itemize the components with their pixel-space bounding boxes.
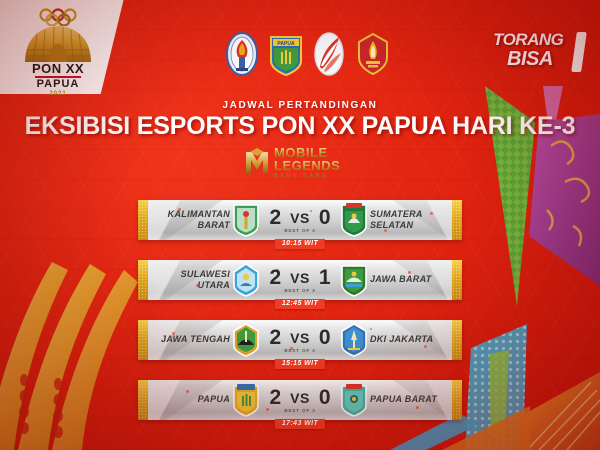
away-team-name: SUMATERA SELATAN: [370, 200, 452, 240]
crest-sulawesi-utara: [232, 262, 260, 298]
match-time-badge: 10:15 WIT: [275, 239, 325, 249]
match-score: 2 VS 0 BEST OF 3: [262, 320, 338, 360]
match-row[interactable]: PAPUA 2 VS 0 BEST OF 3: [0, 376, 600, 436]
home-team-line1: PAPUA: [198, 394, 230, 405]
match-format: BEST OF 3: [284, 288, 315, 293]
torang-bisa-line1: TORANG: [493, 30, 563, 50]
pon-xx-papua-logo: PON XX PAPUA 2021: [18, 6, 98, 94]
crest-jawa-tengah: [232, 322, 260, 358]
crest-dki-jakarta: [340, 322, 368, 358]
away-team-name: JAWA BARAT: [370, 260, 452, 300]
away-team-line1: DKI JAKARTA: [370, 334, 433, 345]
away-score: 1: [319, 267, 331, 288]
home-team-line1: JAWA TENGAH: [161, 334, 230, 345]
home-team-line1: KALIMANTAN: [168, 209, 230, 220]
match-row[interactable]: JAWA TENGAH 2 VS 0 BEST OF 3: [0, 316, 600, 376]
emblem-pon-torch: [312, 31, 346, 77]
pon-logo-year: 2021: [18, 91, 98, 97]
home-score: 2: [269, 387, 281, 408]
away-team-line2: SELATAN: [370, 220, 423, 231]
emblem-papua-province: PAPUA: [269, 31, 303, 77]
match-format: BEST OF 3: [284, 348, 315, 353]
mobile-legends-logo: MOBILE LEGENDS BANG BANG: [244, 142, 356, 182]
match-score: 2 VS 0 BEST OF 3: [262, 380, 338, 420]
match-list: KALIMANTAN BARAT 2 VS 0 BEST OF 3: [0, 196, 600, 436]
torang-bisa-line2: BISA: [507, 48, 553, 71]
match-row[interactable]: SULAWESI UTARA 2 VS 1 BEST OF 3: [0, 256, 600, 316]
bar-cap-left: [138, 380, 148, 420]
ml-word-mobile: MOBILE: [274, 146, 340, 159]
crest-jawa-barat: [340, 262, 368, 298]
crest-sumatera-selatan: [340, 202, 368, 238]
home-team-line1: SULAWESI: [181, 269, 230, 280]
home-team-name: JAWA TENGAH: [152, 320, 230, 360]
home-team-line2: UTARA: [181, 280, 230, 291]
bar-cap-right: [452, 200, 462, 240]
poster-root: PON XX PAPUA 2021 PAPUA: [0, 0, 600, 450]
vs-label: VS: [290, 211, 310, 225]
pon-logo-line1: PON XX: [18, 62, 98, 75]
stadium-honai-icon: [21, 22, 95, 64]
pon-logo-line2: PAPUA: [18, 79, 98, 90]
home-score: 2: [269, 267, 281, 288]
away-score: 0: [319, 207, 331, 228]
ml-word-legends: LEGENDS: [274, 159, 340, 172]
home-team-name: PAPUA: [152, 380, 230, 420]
torang-bisa-exclamation: [571, 32, 587, 72]
emblem-row: PAPUA: [225, 28, 390, 80]
match-time-badge: 17:43 WIT: [275, 419, 325, 429]
torang-bisa-logo: TORANG BISA: [491, 30, 586, 76]
page-title: EKSIBISI ESPORTS PON XX PAPUA HARI KE-3: [0, 112, 600, 141]
away-team-name: PAPUA BARAT: [370, 380, 452, 420]
bar-cap-right: [452, 380, 462, 420]
svg-text:PAPUA: PAPUA: [277, 41, 295, 47]
home-score: 2: [269, 327, 281, 348]
match-format: BEST OF 3: [284, 228, 315, 233]
ml-tagline: BANG BANG: [274, 174, 340, 179]
match-time-badge: 12:45 WIT: [275, 299, 325, 309]
vs-label: VS: [290, 271, 310, 285]
bar-cap-right: [452, 260, 462, 300]
bar-cap-left: [138, 260, 148, 300]
mobile-legends-wordmark: MOBILE LEGENDS BANG BANG: [274, 146, 340, 179]
away-score: 0: [319, 327, 331, 348]
home-team-name: SULAWESI UTARA: [152, 260, 230, 300]
bar-cap-right: [452, 320, 462, 360]
match-score: 2 VS 0 BEST OF 3: [262, 200, 338, 240]
home-team-line2: BARAT: [168, 220, 230, 231]
vs-label: VS: [290, 391, 310, 405]
bar-cap-left: [138, 200, 148, 240]
crest-papua-barat: [340, 382, 368, 418]
pon-logo-text: PON XX PAPUA 2021: [18, 62, 98, 97]
home-team-name: KALIMANTAN BARAT: [152, 200, 230, 240]
crest-papua: [232, 382, 260, 418]
match-format: BEST OF 3: [284, 408, 315, 413]
crest-kalimantan-barat: [232, 202, 260, 238]
bar-cap-left: [138, 320, 148, 360]
away-score: 0: [319, 387, 331, 408]
emblem-kemenpora: [356, 31, 390, 77]
away-team-line1: PAPUA BARAT: [370, 394, 437, 405]
mobile-legends-mark-icon: [244, 148, 270, 176]
vs-label: VS: [290, 331, 310, 345]
match-time-badge: 15:15 WIT: [275, 359, 325, 369]
emblem-koni: [225, 31, 259, 77]
away-team-line1: SUMATERA: [370, 209, 423, 220]
match-row[interactable]: KALIMANTAN BARAT 2 VS 0 BEST OF 3: [0, 196, 600, 256]
schedule-subtitle: JADWAL PERTANDINGAN: [0, 100, 600, 111]
away-team-line1: JAWA BARAT: [370, 274, 432, 285]
away-team-name: DKI JAKARTA: [370, 320, 452, 360]
home-score: 2: [269, 207, 281, 228]
match-score: 2 VS 1 BEST OF 3: [262, 260, 338, 300]
